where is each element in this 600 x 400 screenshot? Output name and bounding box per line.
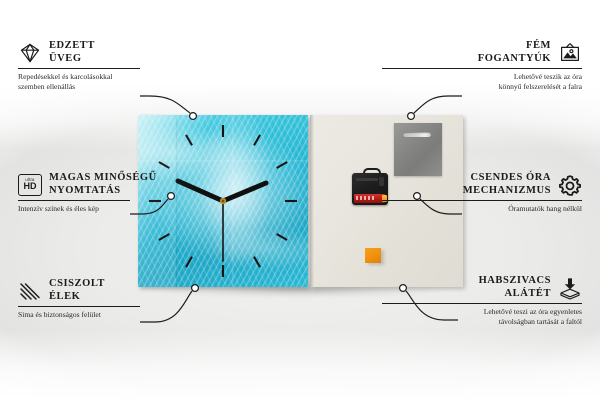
ultra-hd-badge: ultra HD: [18, 174, 42, 196]
callout-polished-edges: CSISZOLT ÉLEK Sima és biztonságos felüle…: [18, 278, 218, 320]
callout-rule: [18, 200, 130, 201]
callout-title: CSENDES ÓRA MECHANIZMUS: [463, 172, 551, 197]
ultra-hd-icon: ultra HD: [18, 173, 42, 197]
diamond-icon: [18, 41, 42, 65]
gear-icon: [558, 173, 582, 197]
callout-description: Repedésekkel és karcolásokkal szemben el…: [18, 72, 218, 92]
foam-pad-sticker: [365, 248, 381, 263]
callout-foam-pad: HABSZIVACS ALÁTÉT Lehetővé teszi az óra …: [382, 275, 582, 327]
callout-title: CSISZOLT ÉLEK: [49, 278, 105, 303]
callout-title: MAGAS MINŐSÉGŰ NYOMTATÁS: [49, 172, 157, 197]
callout-rule: [382, 68, 582, 69]
hd-label: HD: [24, 182, 37, 191]
callout-head: ultra HD MAGAS MINŐSÉGŰ NYOMTATÁS: [18, 172, 218, 197]
infographic-canvas: EDZETT ÜVEG Repedésekkel és karcolásokka…: [0, 0, 600, 400]
callout-rule: [18, 306, 140, 307]
callout-title: HABSZIVACS ALÁTÉT: [479, 275, 551, 300]
callout-silent-mechanism: CSENDES ÓRA MECHANIZMUS Óramutatók hang …: [382, 172, 582, 214]
callout-rule: [382, 303, 582, 304]
panel-edge-shadow: [310, 115, 314, 287]
callout-metal-hangers: FÉM FOGANTYÚK Lehetővé teszik az óra kön…: [382, 40, 582, 92]
callout-description: Lehetővé teszi az óra egyenletes távolsá…: [382, 307, 582, 327]
metal-hanger-plate: [394, 123, 442, 176]
callout-description: Intenzív színek és éles kép: [18, 204, 218, 214]
callout-head: FÉM FOGANTYÚK: [382, 40, 582, 65]
callout-high-quality-print: ultra HD MAGAS MINŐSÉGŰ NYOMTATÁS Intenz…: [18, 172, 218, 214]
callout-head: CSISZOLT ÉLEK: [18, 278, 218, 303]
callout-description: Lehetővé teszik az óra könnyű felszerelé…: [382, 72, 582, 92]
battery-label: [356, 196, 376, 200]
callout-description: Óramutatók hang nélkül: [382, 204, 582, 214]
callout-head: HABSZIVACS ALÁTÉT: [382, 275, 582, 300]
bottom-white-gradient: [0, 330, 600, 400]
callout-head: EDZETT ÜVEG: [18, 40, 218, 65]
callout-rule: [18, 68, 140, 69]
foam-pad-icon: [558, 276, 582, 300]
callout-rule: [382, 200, 582, 201]
callout-description: Sima és biztonságos felület: [18, 310, 218, 320]
callout-title: EDZETT ÜVEG: [49, 40, 95, 65]
battery: [354, 194, 385, 203]
callout-title: FÉM FOGANTYÚK: [478, 40, 551, 65]
picture-hanger-icon: [558, 41, 582, 65]
callout-head: CSENDES ÓRA MECHANIZMUS: [382, 172, 582, 197]
polished-edges-icon: [18, 279, 42, 303]
callout-tempered-glass: EDZETT ÜVEG Repedésekkel és karcolásokka…: [18, 40, 218, 92]
